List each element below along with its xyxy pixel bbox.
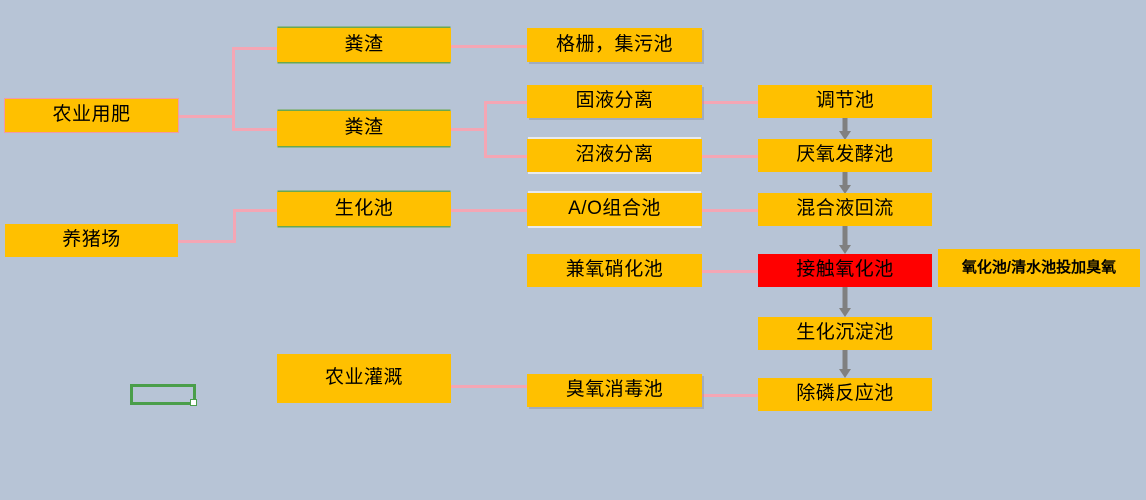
node-mixed-liquid-reflux[interactable]: 混合液回流 <box>758 193 932 226</box>
node-anaerobic-fermentation-tank[interactable]: 厌氧发酵池 <box>758 139 932 172</box>
resize-handle[interactable] <box>190 399 197 406</box>
node-label: 生化池 <box>335 199 394 220</box>
node-label: 生化沉淀池 <box>796 323 894 344</box>
node-label: 兼氧硝化池 <box>566 260 664 281</box>
node-contact-oxidation-tank[interactable]: 接触氧化池 <box>758 254 932 287</box>
connector-irrigation-to-ozone <box>451 385 529 388</box>
connector-ozone-to-phosphorus <box>702 394 760 397</box>
node-label: 接触氧化池 <box>796 260 894 281</box>
connector-step-to-biochemical <box>233 209 280 212</box>
node-ozone-disinfection-tank[interactable]: 臭氧消毒池 <box>527 374 702 407</box>
connector-fertilizer-to-split <box>178 115 235 118</box>
connector-split-vertical-top <box>232 47 235 118</box>
node-agri-fertilizer[interactable]: 农业用肥 <box>5 99 178 132</box>
flowchart-canvas: 农业用肥 粪渣 粪渣 格栅，集污池 固液分离 沼液分离 调节池 厌氧发酵池 养猪… <box>0 0 1146 500</box>
node-label: 养猪场 <box>62 230 121 251</box>
node-biochemical-tank[interactable]: 生化池 <box>277 192 451 226</box>
node-label: 氧化池/清水池投加臭氧 <box>962 260 1116 277</box>
connector-facultative-to-contact <box>702 270 760 273</box>
node-label: 农业灌溉 <box>325 368 403 389</box>
node-biogas-slurry-separation[interactable]: 沼液分离 <box>527 139 702 172</box>
node-label: 臭氧消毒池 <box>566 380 664 401</box>
connector-ao-to-reflux <box>702 209 760 212</box>
node-facultative-nitrification-tank[interactable]: 兼氧硝化池 <box>527 254 702 287</box>
node-ozone-dosing-note[interactable]: 氧化池/清水池投加臭氧 <box>938 249 1140 287</box>
node-label: 厌氧发酵池 <box>796 145 894 166</box>
arrow-regulating-to-anaerobic <box>838 118 852 140</box>
connector-solidliquid-to-regulating <box>702 101 760 104</box>
arrow-reflux-to-contact <box>838 226 852 254</box>
node-regulating-tank[interactable]: 调节池 <box>758 85 932 118</box>
node-solid-liquid-separation[interactable]: 固液分离 <box>527 85 702 118</box>
node-manure-residue-1[interactable]: 粪渣 <box>277 28 451 62</box>
connector-pigfarm-to-step <box>178 240 236 243</box>
node-label: 混合液回流 <box>796 199 894 220</box>
node-phosphorus-removal-tank[interactable]: 除磷反应池 <box>758 378 932 411</box>
arrow-anaerobic-to-reflux <box>838 172 852 194</box>
node-label: 调节池 <box>816 91 875 112</box>
node-manure-residue-2[interactable]: 粪渣 <box>277 111 451 146</box>
connector-manure1-to-grate <box>451 45 528 48</box>
connector-biogas-to-anaerobic <box>702 155 760 158</box>
connector-split2-to-biogas <box>484 155 528 158</box>
node-grate-sewage-pool[interactable]: 格栅，集污池 <box>527 28 702 62</box>
node-ao-combined-tank[interactable]: A/O组合池 <box>527 193 702 226</box>
empty-selected-shape[interactable] <box>130 384 196 405</box>
node-agri-irrigation[interactable]: 农业灌溉 <box>277 354 451 403</box>
arrow-sedimentation-to-phosphorus <box>838 350 852 378</box>
connector-split2-vertical <box>484 101 487 157</box>
connector-biochemical-to-ao <box>451 209 528 212</box>
connector-split-to-manure1 <box>232 47 280 50</box>
node-pig-farm[interactable]: 养猪场 <box>5 224 178 257</box>
node-label: A/O组合池 <box>568 199 661 220</box>
connector-manure2-to-split2 <box>451 128 486 131</box>
node-label: 除磷反应池 <box>796 384 894 405</box>
connector-split-to-manure2 <box>232 128 280 131</box>
node-label: 农业用肥 <box>52 105 130 126</box>
node-biochemical-sedimentation-tank[interactable]: 生化沉淀池 <box>758 317 932 350</box>
node-label: 格栅，集污池 <box>556 35 673 56</box>
connector-split2-to-solidliquid <box>484 101 528 104</box>
node-label: 固液分离 <box>575 91 653 112</box>
node-label: 粪渣 <box>344 118 383 139</box>
connector-step-vertical <box>233 209 236 243</box>
node-label: 粪渣 <box>344 35 383 56</box>
arrow-contact-to-sedimentation <box>838 287 852 317</box>
node-label: 沼液分离 <box>575 145 653 166</box>
